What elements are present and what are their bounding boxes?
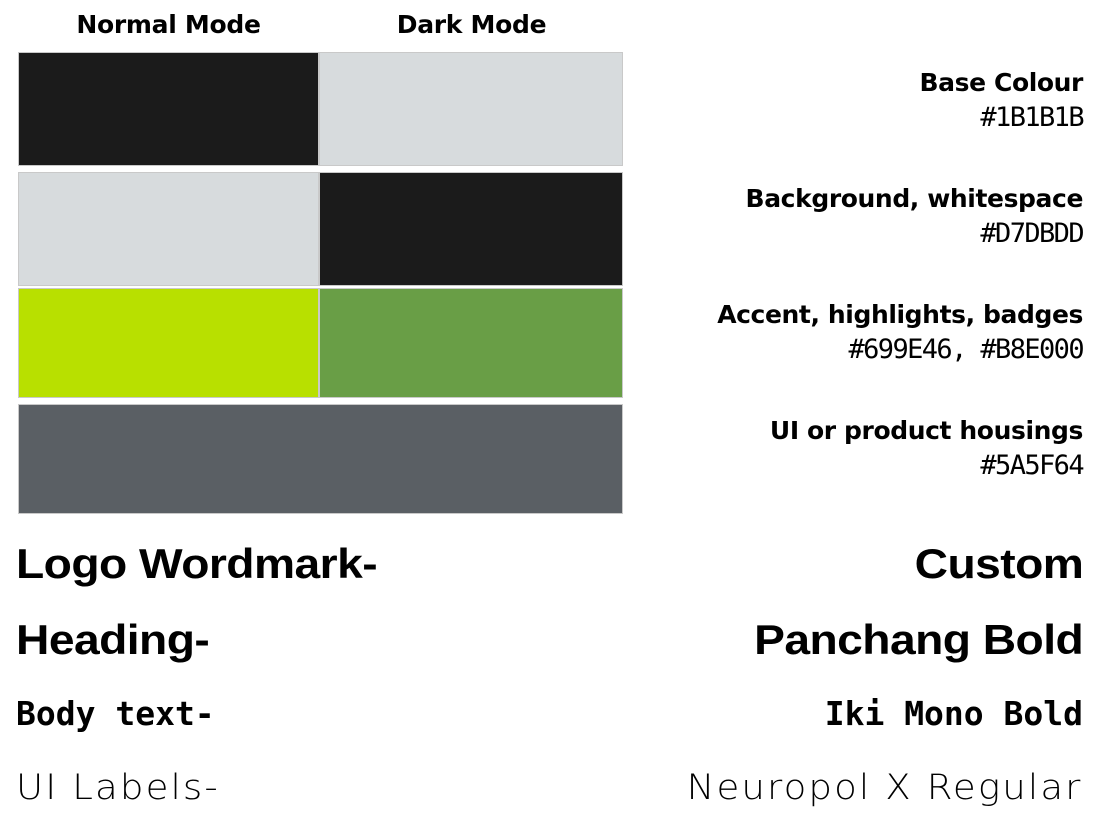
legend-hex-value: #D7DBDD	[643, 216, 1083, 252]
legend-hex-value: #5A5F64	[643, 448, 1083, 484]
legend-item: UI or product housings #5A5F64	[643, 414, 1083, 484]
swatch-row	[18, 172, 623, 286]
typography-font-name: Custom	[914, 538, 1083, 590]
swatch-normal[interactable]	[18, 52, 319, 166]
mode-headers: Normal Mode Dark Mode	[0, 8, 640, 46]
typography-row: Heading- Panchang Bold	[0, 614, 1100, 690]
swatch-normal[interactable]	[18, 172, 319, 286]
typography-font-name: Iki Mono Bold	[825, 690, 1083, 738]
colour-legend: Base Colour #1B1B1B Background, whitespa…	[643, 52, 1083, 514]
swatch-full[interactable]	[18, 404, 623, 514]
swatch-dark[interactable]	[319, 288, 623, 398]
swatch-dark[interactable]	[319, 52, 623, 166]
typography-section: Logo Wordmark- Custom Heading- Panchang …	[0, 524, 1100, 825]
legend-role-label: Accent, highlights, badges	[643, 298, 1083, 332]
legend-role-label: Background, whitespace	[643, 182, 1083, 216]
typography-font-name: Neuropol X Regular	[687, 764, 1083, 812]
swatch-row	[18, 288, 623, 398]
typography-row: Logo Wordmark- Custom	[0, 538, 1100, 614]
typography-role-label: Logo Wordmark-	[16, 538, 377, 590]
swatch-row	[18, 52, 623, 166]
typography-role-label: UI Labels-	[16, 764, 220, 812]
swatch-normal[interactable]	[18, 288, 319, 398]
legend-hex-value: #1B1B1B	[643, 100, 1083, 136]
typography-row: Body text- Iki Mono Bold	[0, 690, 1100, 766]
legend-item: Accent, highlights, badges #699E46, #B8E…	[643, 298, 1083, 368]
legend-hex-value: #699E46, #B8E000	[643, 332, 1083, 368]
normal-mode-header: Normal Mode	[18, 8, 319, 42]
colour-swatch-grid	[18, 52, 623, 514]
legend-role-label: UI or product housings	[643, 414, 1083, 448]
legend-item: Base Colour #1B1B1B	[643, 66, 1083, 136]
typography-font-name: Panchang Bold	[754, 614, 1083, 666]
legend-role-label: Base Colour	[643, 66, 1083, 100]
swatch-row	[18, 404, 623, 514]
legend-item: Background, whitespace #D7DBDD	[643, 182, 1083, 252]
dark-mode-header: Dark Mode	[319, 8, 624, 42]
typography-role-label: Heading-	[16, 614, 209, 666]
swatch-dark[interactable]	[319, 172, 623, 286]
typography-row: UI Labels- Neuropol X Regular	[0, 764, 1100, 840]
typography-role-label: Body text-	[16, 690, 215, 738]
